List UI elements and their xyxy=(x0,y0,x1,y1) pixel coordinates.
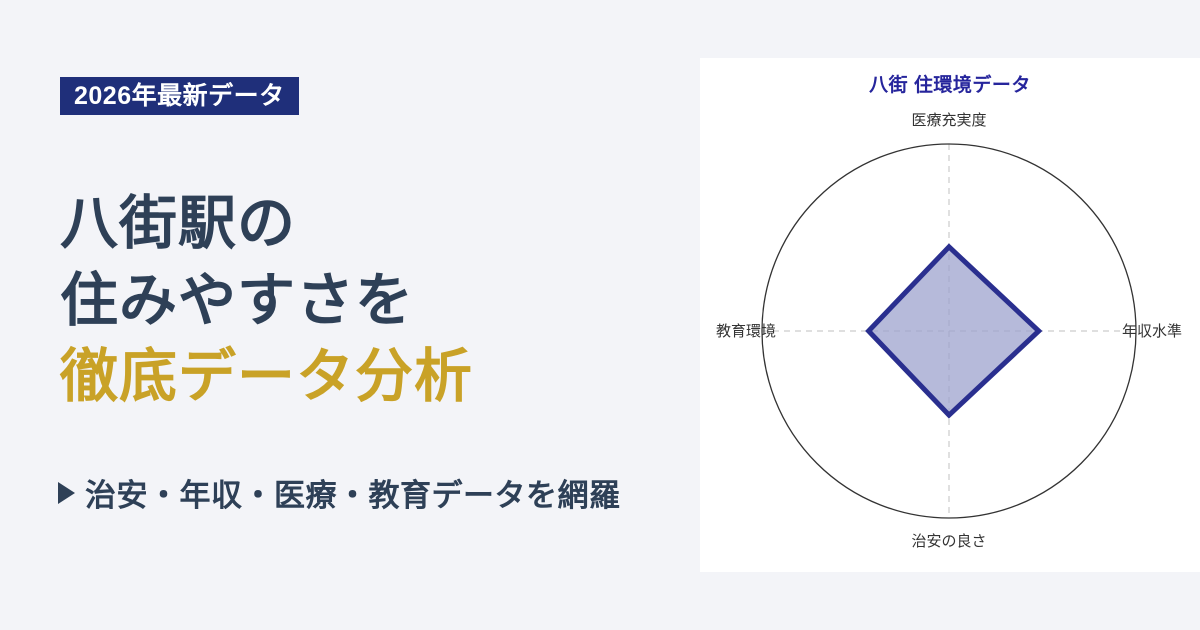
headline-line-1: 八街駅の xyxy=(60,186,700,263)
radar-chart: 医療充実度 年収水準 治安の良さ 教育環境 xyxy=(700,58,1200,572)
headline-line-2: 住みやすさを xyxy=(60,263,700,340)
radar-data-polygon xyxy=(869,247,1039,415)
subtitle: 治安・年収・医療・教育データを網羅 xyxy=(58,470,621,515)
chart-panel: 八街 住環境データ 医療充実度 年収水準 治安の良さ 教育環境 xyxy=(700,58,1200,572)
subtitle-label: 治安・年収・医療・教育データを網羅 xyxy=(85,470,621,515)
page-title: 八街駅の 住みやすさを 徹底データ分析 xyxy=(60,186,700,416)
ogp-canvas: 2026年最新データ 八街駅の 住みやすさを 徹底データ分析 治安・年収・医療・… xyxy=(0,0,1200,630)
axis-label-left: 教育環境 xyxy=(716,322,776,340)
left-text-column: 2026年最新データ 八街駅の 住みやすさを 徹底データ分析 治安・年収・医療・… xyxy=(0,0,700,630)
latest-data-badge: 2026年最新データ xyxy=(60,77,299,115)
headline-line-3: 徹底データ分析 xyxy=(60,339,700,416)
axis-label-bottom: 治安の良さ xyxy=(911,533,986,550)
axis-label-top: 医療充実度 xyxy=(911,112,986,129)
triangle-right-icon xyxy=(58,482,75,504)
axis-label-right: 年収水準 xyxy=(1122,323,1182,340)
